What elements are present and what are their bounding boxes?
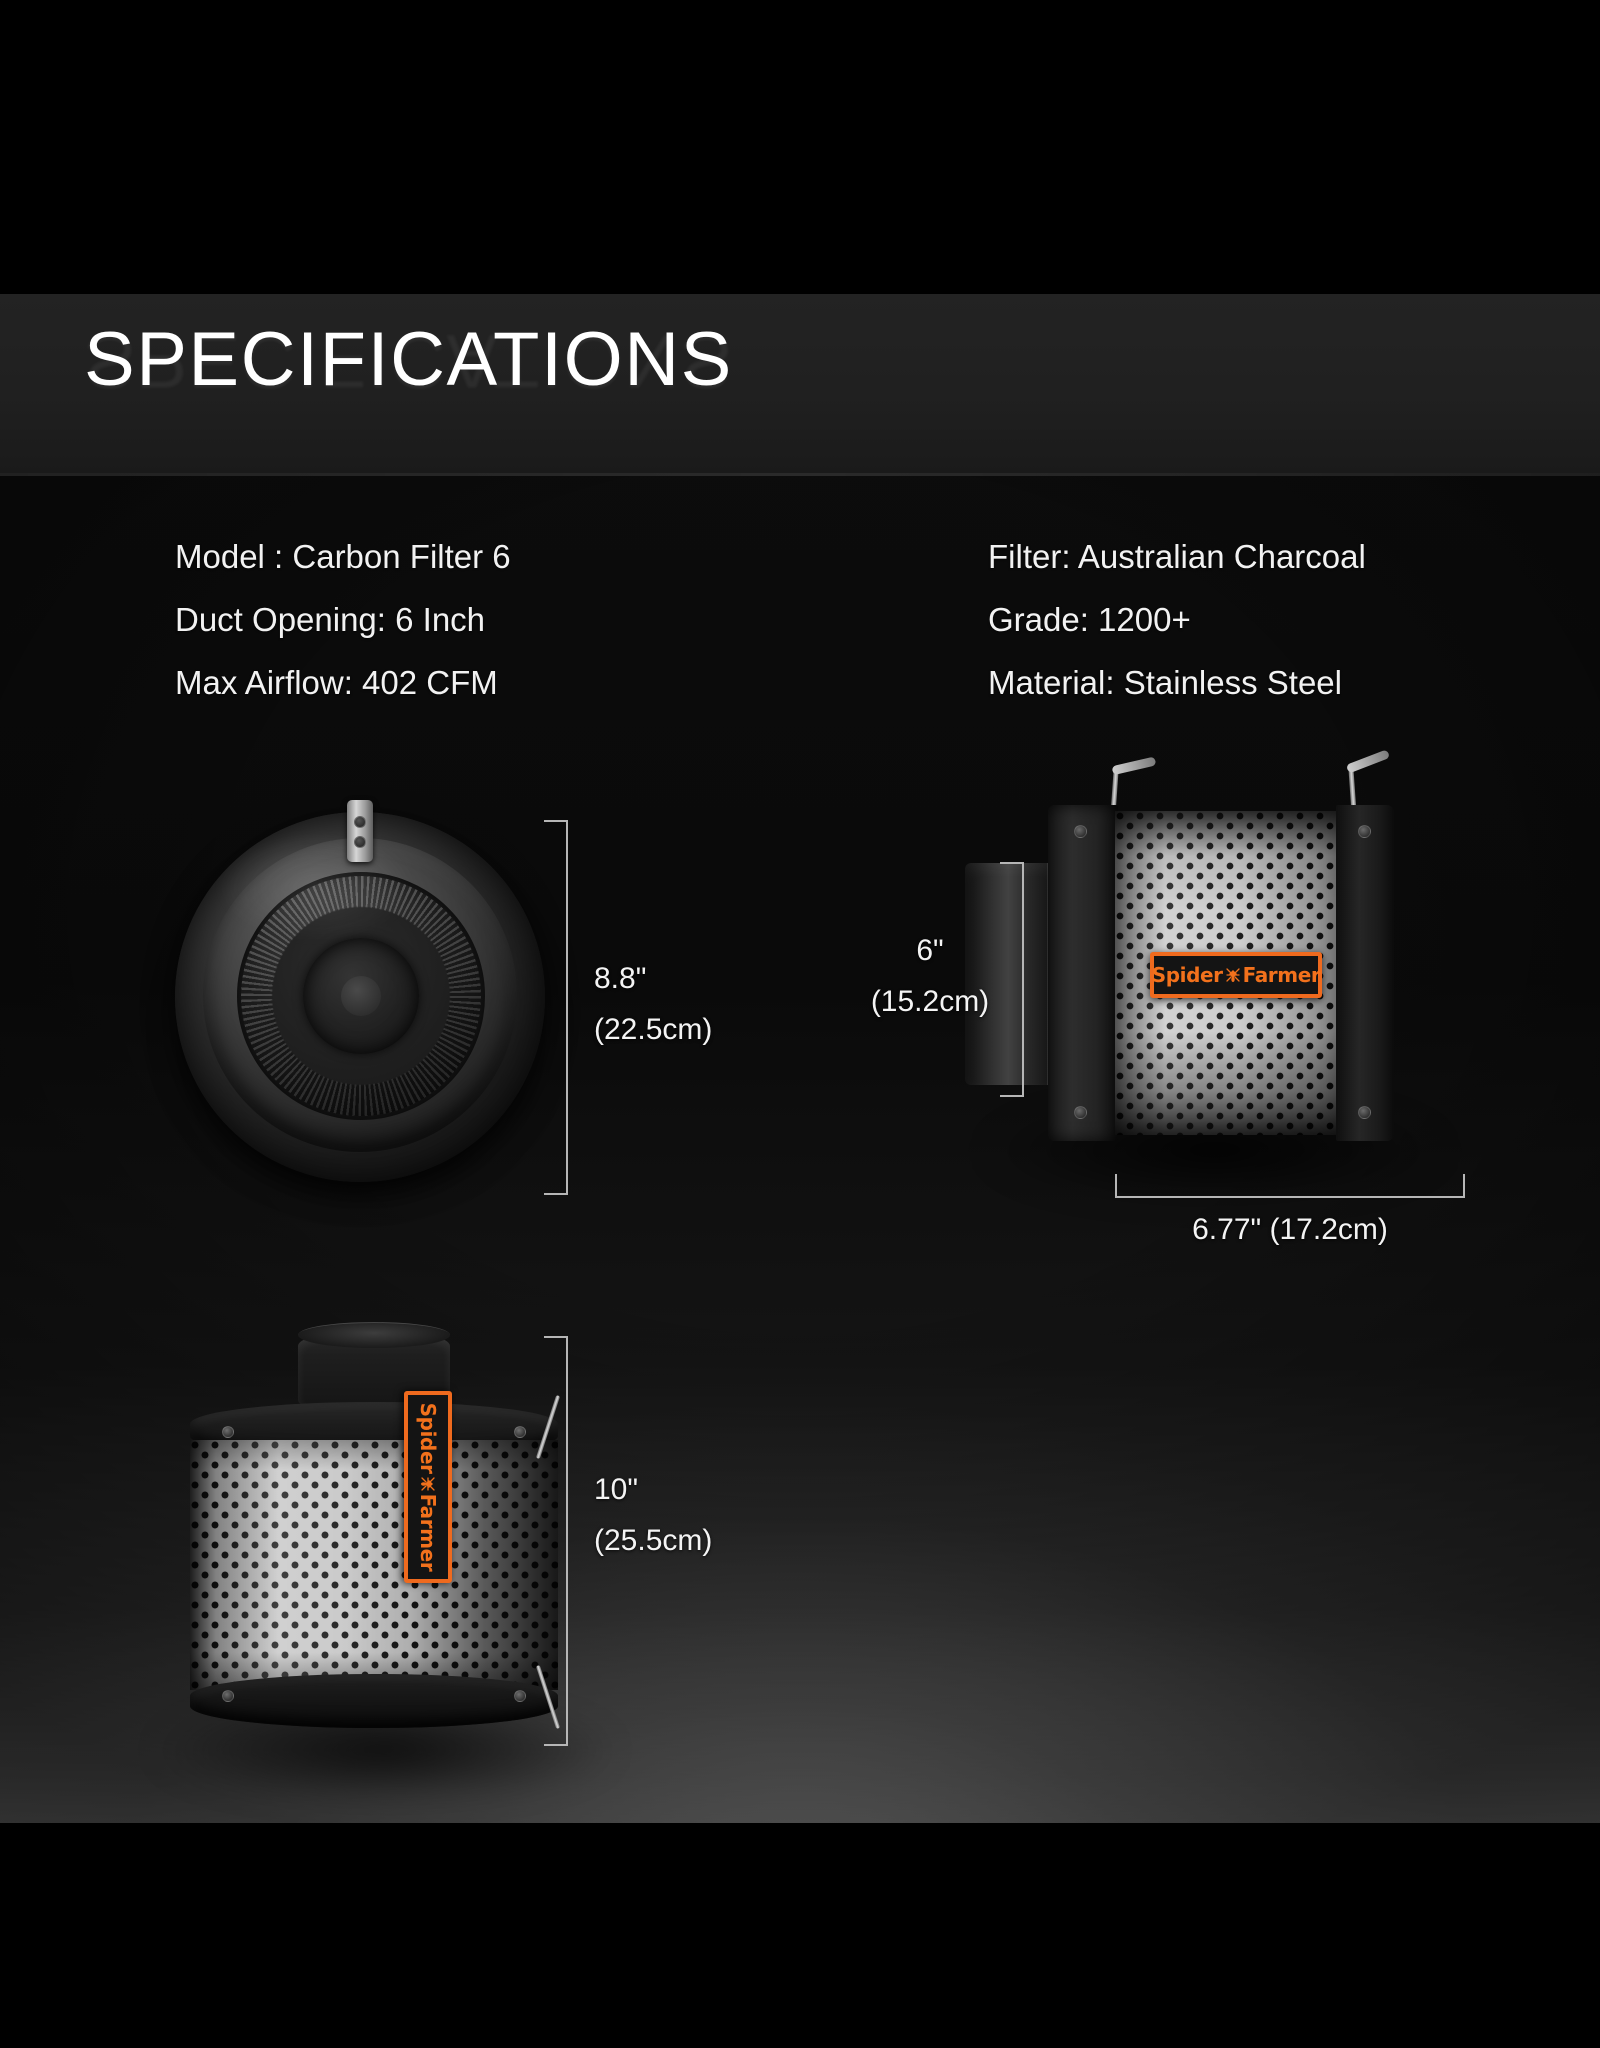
bolt-icon [1074, 825, 1087, 838]
dimension-cap-bottom [544, 1193, 568, 1195]
brand-logo-badge-vertical: Spider Farmer [404, 1391, 452, 1583]
spec-column-right: Filter: Australian Charcoal Grade: 1200+… [988, 525, 1366, 714]
spider-icon [1225, 965, 1241, 985]
brand-name-part1: Spider [1152, 963, 1223, 987]
bolt-icon [222, 1690, 234, 1702]
side-view-end-cap-right [1336, 805, 1394, 1141]
front-view-highlight [215, 832, 415, 942]
upright-view-bottom-cap [190, 1674, 558, 1728]
dimension-cap-left [1115, 1174, 1117, 1198]
side-view-end-cap-left [1048, 805, 1118, 1141]
upright-view-duct-opening [298, 1322, 450, 1348]
screw-icon [354, 816, 366, 828]
brand-logo-text: Spider Farmer [1152, 963, 1321, 987]
dimension-cap-top [544, 1336, 568, 1338]
dimension-label-duct-opening-inches: 6" [855, 930, 1005, 972]
dimension-label-side-width: 6.77" (17.2cm) [1115, 1209, 1465, 1251]
dimension-cap-bottom [1000, 1095, 1024, 1097]
brand-logo-badge: Spider Farmer [1150, 952, 1322, 998]
dimension-cap-top [1000, 862, 1024, 864]
product-upright-view: Spider Farmer [180, 1330, 580, 1770]
dimension-line-stroke [566, 820, 568, 1195]
brand-name-part2: Farmer [416, 1494, 440, 1572]
spec-line-grade: Grade: 1200+ [988, 588, 1366, 651]
dimension-line-stroke [1022, 862, 1024, 1097]
bolt-icon [514, 1690, 526, 1702]
dimension-line-stroke [1115, 1196, 1465, 1198]
brand-logo-text: Spider Farmer [416, 1403, 440, 1572]
spec-column-left: Model : Carbon Filter 6 Duct Opening: 6 … [175, 525, 511, 714]
dimension-label-front-diameter-inches: 8.8" [594, 958, 646, 1000]
page-title-reflection: SPECIFICATIONS [84, 322, 733, 398]
bolt-icon [514, 1426, 526, 1438]
mounting-clip-icon [347, 800, 373, 862]
bolt-icon [1074, 1106, 1087, 1119]
bolt-icon [1358, 825, 1371, 838]
dimension-cap-bottom [544, 1744, 568, 1746]
spec-line-max-airflow: Max Airflow: 402 CFM [175, 651, 511, 714]
dimension-cap-top [544, 820, 568, 822]
spec-line-model: Model : Carbon Filter 6 [175, 525, 511, 588]
bolt-icon [1358, 1106, 1371, 1119]
dimension-line-stroke [566, 1336, 568, 1746]
product-front-view [175, 812, 545, 1182]
spider-icon [418, 1476, 438, 1492]
dimension-label-height-metric: (25.5cm) [594, 1520, 712, 1562]
dimension-label-duct-opening-metric: (15.2cm) [855, 981, 1005, 1023]
brand-name-part1: Spider [416, 1403, 440, 1474]
dimension-label-front-diameter-metric: (22.5cm) [594, 1009, 712, 1051]
spec-line-filter: Filter: Australian Charcoal [988, 525, 1366, 588]
bolt-icon [222, 1426, 234, 1438]
spec-line-material: Material: Stainless Steel [988, 651, 1366, 714]
spec-line-duct-opening: Duct Opening: 6 Inch [175, 588, 511, 651]
dimension-label-height-inches: 10" [594, 1469, 638, 1511]
brand-name-part2: Farmer [1243, 963, 1321, 987]
product-side-view: Spider Farmer [1020, 775, 1390, 1175]
side-view-duct-collar [965, 863, 1055, 1085]
specification-page: SPECIFICATIONS SPECIFICATIONS Model : Ca… [0, 0, 1600, 2048]
screw-icon [354, 836, 366, 848]
upright-view-mesh-shading [190, 1440, 558, 1690]
dimension-cap-right [1463, 1174, 1465, 1198]
front-view-center-hub [341, 976, 381, 1016]
